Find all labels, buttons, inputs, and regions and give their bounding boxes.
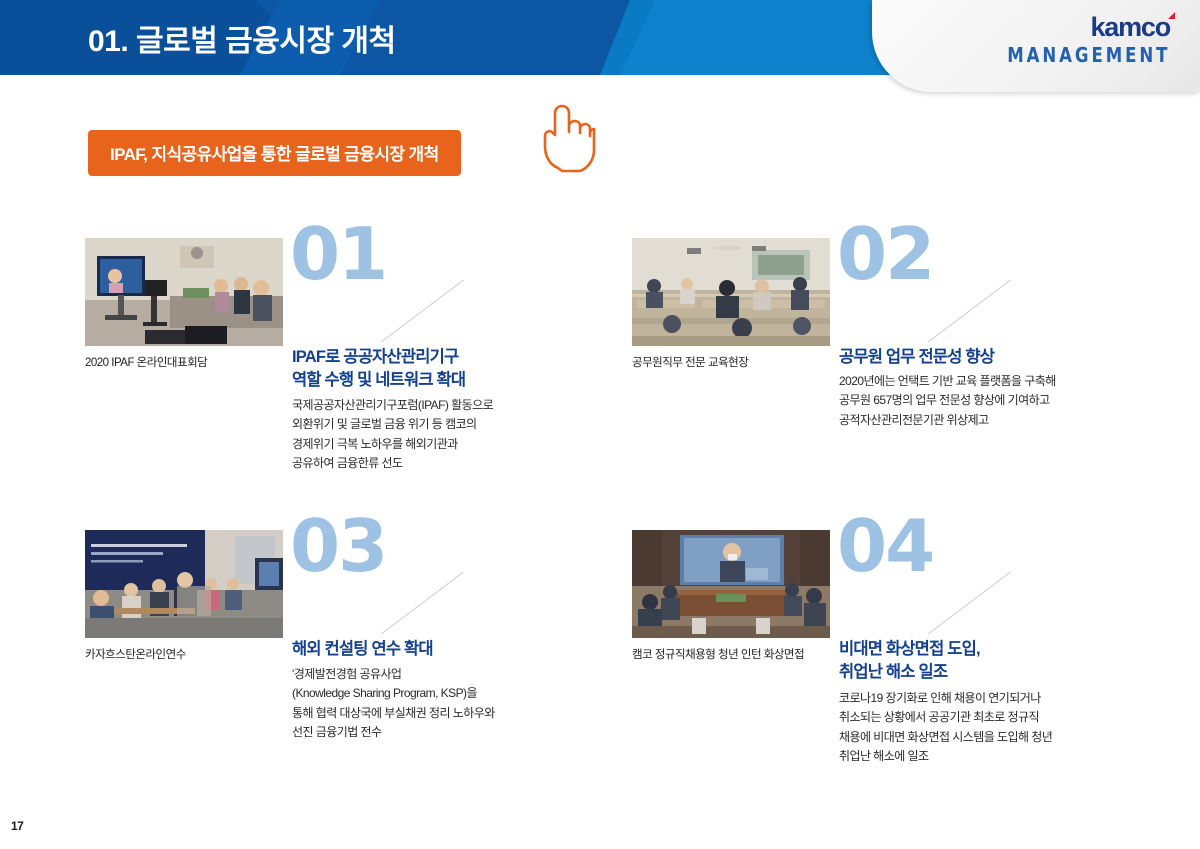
achievement-headline-3: 해외 컨설팅 연수 확대 [292, 638, 552, 661]
section-banner-area: IPAF, 지식공유사업을 통한 글로벌 금융시장 개척 [88, 130, 461, 176]
achievement-body-3: '경제발전경험 공유사업 (Knowledge Sharing Program,… [292, 665, 562, 743]
achievement-caption-2: 공무원직무 전문 교육현장 [632, 354, 842, 370]
achievement-caption-1: 2020 IPAF 온라인대표회담 [85, 354, 295, 370]
logo-kamco-text: kamco [1090, 14, 1170, 41]
achievement-number-3: 03 [290, 510, 386, 582]
achievement-photo-3 [85, 530, 283, 638]
achievement-headline-4: 비대면 화상면접 도입, 취업난 해소 일조 [839, 638, 1099, 685]
brand-logo: kamco MANAGEMENT [993, 14, 1170, 68]
achievement-number-4: 04 [837, 510, 933, 582]
achievement-number-1: 01 [290, 218, 386, 290]
achievement-body-2: 2020년에는 언택트 기반 교육 플랫폼을 구축해 공무원 657명의 업무 … [839, 372, 1109, 430]
achievement-caption-4: 캠코 정규직채용형 청년 인턴 화상면접 [632, 646, 842, 662]
logo-management-label: MANAGEMENT [1007, 43, 1170, 68]
achievement-headline-2: 공무원 업무 전문성 향상 [839, 346, 1099, 369]
achievement-photo-1 [85, 238, 283, 346]
achievement-photo-2 [632, 238, 830, 346]
achievement-slash-2 [928, 280, 1013, 342]
achievement-number-2: 02 [837, 218, 933, 290]
logo-kamco-label: kamco [1090, 12, 1170, 42]
pointing-hand-icon [538, 102, 596, 174]
achievement-slash-4 [928, 572, 1013, 634]
achievement-slash-3 [381, 572, 466, 634]
logo-panel: kamco MANAGEMENT [872, 0, 1200, 92]
achievement-headline-1: IPAF로 공공자산관리기구 역할 수행 및 네트워크 확대 [292, 346, 552, 393]
achievement-photo-4 [632, 530, 830, 638]
achievement-slash-1 [381, 280, 466, 342]
page-title: 01. 글로벌 금융시장 개척 [88, 16, 396, 60]
achievement-body-4: 코로나19 장기화로 인해 채용이 연기되거나 취소되는 상황에서 공공기관 최… [839, 689, 1109, 767]
achievement-body-1: 국제공공자산관리기구포럼(IPAF) 활동으로 외환위기 및 글로벌 금융 위기… [292, 396, 562, 474]
achievement-caption-3: 카자흐스탄온라인연수 [85, 646, 295, 662]
section-banner: IPAF, 지식공유사업을 통한 글로벌 금융시장 개척 [88, 130, 461, 176]
page-number: 17 [11, 819, 23, 833]
